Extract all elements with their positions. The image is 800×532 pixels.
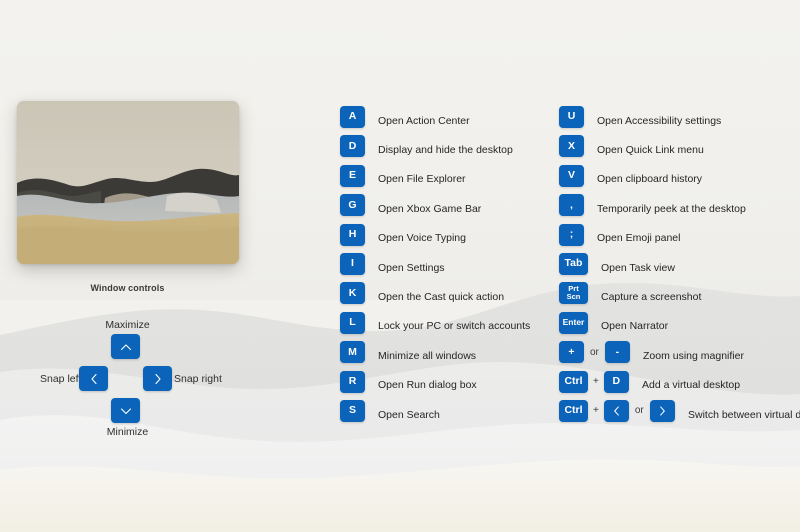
shortcut-description: Open Search [378,409,440,421]
shortcut-key-group: U [559,106,584,128]
shortcut-description: Minimize all windows [378,350,476,362]
chevron-up-icon [120,343,131,350]
shortcut-description: Open Voice Typing [378,232,466,244]
shortcut-description: Open Run dialog box [378,379,477,391]
wallpaper-thumbnail-image [17,101,239,264]
shortcut-description: Open Accessibility settings [597,115,721,127]
shortcut-description: Open Task view [601,262,675,274]
shortcut-key-group: L [340,312,365,334]
window-controls-title: Window controls [0,283,255,293]
key-u[interactable]: U [559,106,584,128]
key-separator-or: or [635,405,644,416]
shortcut-key-group: Enter [559,312,588,334]
key-enter[interactable]: Enter [559,312,588,334]
shortcut-key-group: M [340,341,365,363]
key-right-arrow[interactable] [650,400,675,422]
shortcut-description: Open File Explorer [378,173,466,185]
shortcut-key-group: , [559,194,584,216]
key-x[interactable]: X [559,135,584,157]
key-g[interactable]: G [340,194,365,216]
key-v[interactable]: V [559,165,584,187]
shortcut-key-group: PrtScn [559,282,588,304]
key-print-screen[interactable]: PrtScn [559,282,588,304]
maximize-label: Maximize [0,319,255,331]
key-ctrl[interactable]: Ctrl [559,371,588,393]
minimize-key-button[interactable] [111,398,140,423]
shortcut-description: Add a virtual desktop [642,379,740,391]
shortcut-key-group: G [340,194,365,216]
key-ctrl[interactable]: Ctrl [559,400,588,422]
shortcut-key-group: A [340,106,365,128]
chevron-down-icon [120,407,131,414]
shortcut-key-group: V [559,165,584,187]
shortcut-description: Open the Cast quick action [378,291,504,303]
shortcut-description: Display and hide the desktop [378,144,513,156]
key-d[interactable]: D [340,135,365,157]
chevron-right-icon [659,406,666,416]
shortcut-description: Open clipboard history [597,173,702,185]
shortcut-key-group: I [340,253,365,275]
key-a[interactable]: A [340,106,365,128]
shortcut-description: Temporarily peek at the desktop [597,203,746,215]
snap-right-key-button[interactable] [143,366,172,391]
shortcut-key-group: S [340,400,365,422]
snap-right-label: Snap right [174,373,222,385]
wallpaper-thumbnail [17,101,239,264]
snap-left-label: Snap left [40,373,81,385]
shortcut-key-group: Ctrl+or [559,400,675,422]
shortcut-key-group: D [340,135,365,157]
key-minus[interactable]: - [605,341,630,363]
shortcut-key-group: H [340,224,365,246]
shortcut-description: Open Xbox Game Bar [378,203,481,215]
shortcut-key-group: ; [559,224,584,246]
key-r[interactable]: R [340,371,365,393]
shortcut-description: Open Emoji panel [597,232,680,244]
key-semicolon[interactable]: ; [559,224,584,246]
shortcut-key-group: K [340,282,365,304]
shortcut-key-group: +or- [559,341,630,363]
key-left-arrow[interactable] [604,400,629,422]
key-separator-plus: + [593,376,599,387]
key-tab[interactable]: Tab [559,253,588,275]
key-plus[interactable]: + [559,341,584,363]
key-separator-plus: + [593,405,599,416]
chevron-left-icon [613,406,620,416]
key-d[interactable]: D [604,371,629,393]
minimize-label: Minimize [0,426,255,438]
chevron-left-icon [90,373,97,384]
shortcut-description: Open Quick Link menu [597,144,704,156]
shortcut-description: Lock your PC or switch accounts [378,320,530,332]
shortcut-key-group: X [559,135,584,157]
shortcut-key-group: Tab [559,253,588,275]
shortcut-description: Capture a screenshot [601,291,701,303]
key-s[interactable]: S [340,400,365,422]
key-e[interactable]: E [340,165,365,187]
key-h[interactable]: H [340,224,365,246]
shortcut-description: Open Narrator [601,320,668,332]
key-i[interactable]: I [340,253,365,275]
key-separator-or: or [590,347,599,358]
shortcut-key-group: E [340,165,365,187]
window-controls-diagram: Window controls Maximize Minimize Snap l… [0,283,255,438]
chevron-right-icon [154,373,161,384]
maximize-key-button[interactable] [111,334,140,359]
key-l[interactable]: L [340,312,365,334]
shortcut-key-group: Ctrl+D [559,371,629,393]
shortcut-description: Zoom using magnifier [643,350,744,362]
key-m[interactable]: M [340,341,365,363]
snap-left-key-button[interactable] [79,366,108,391]
shortcut-description: Switch between virtual desktops [688,409,800,421]
shortcut-description: Open Settings [378,262,445,274]
key-k[interactable]: K [340,282,365,304]
shortcut-description: Open Action Center [378,115,470,127]
key-comma[interactable]: , [559,194,584,216]
shortcut-key-group: R [340,371,365,393]
